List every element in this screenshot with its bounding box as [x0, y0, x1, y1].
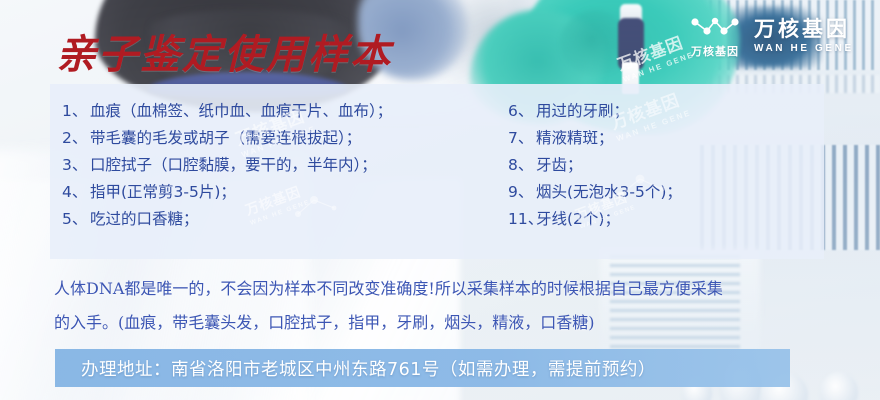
list-item: 8、 牙齿； [508, 152, 824, 179]
list-item: 6、 用过的牙刷； [508, 98, 824, 125]
list-item: 1、 血痕（血棉签、纸巾血、血痕干片、血布）； [62, 98, 502, 125]
list-item: 9、 烟头(无泡水3-5个)； [508, 179, 824, 206]
logo-mark-label: 万核基因 [691, 43, 739, 59]
address-bar: 办理地址：南省洛阳市老城区中州东路761号（如需办理，需提前预约） [55, 349, 790, 387]
list-item-number: 2、 [62, 125, 90, 152]
molecule-icon [688, 14, 742, 40]
list-item-text: 指甲(正常剪3-5片)； [90, 179, 236, 206]
list-item-number: 8、 [508, 152, 536, 179]
explanation-paragraph: 人体DNA都是唯一的，不会因为样本不同改变准确度!所以采集样本的时候根据自己最方… [54, 272, 844, 340]
list-item-text: 用过的牙刷； [536, 98, 629, 125]
list-item: 11、 牙线(2个)； [508, 206, 824, 233]
list-item-text: 带毛囊的毛发或胡子（需要连根拔起）； [90, 125, 361, 152]
list-item-text: 烟头(无泡水3-5个)； [536, 179, 682, 206]
list-item-text: 牙线(2个)； [536, 206, 620, 233]
logo-mark: 万核基因 [688, 14, 742, 59]
list-item-number: 9、 [508, 179, 536, 206]
address-text: 办理地址：南省洛阳市老城区中州东路761号（如需办理，需提前预约） [55, 356, 656, 381]
sample-list-panel: 1、 血痕（血棉签、纸巾血、血痕干片、血布）； 2、 带毛囊的毛发或胡子（需要连… [50, 84, 824, 259]
sample-list-left-column: 1、 血痕（血棉签、纸巾血、血痕干片、血布）； 2、 带毛囊的毛发或胡子（需要连… [50, 98, 502, 259]
list-item-text: 精液精斑； [536, 125, 614, 152]
list-item-text: 血痕（血棉签、纸巾血、血痕干片、血布）； [90, 98, 392, 125]
list-item: 7、 精液精斑； [508, 125, 824, 152]
sample-list-right-column: 6、 用过的牙刷； 7、 精液精斑； 8、 牙齿； 9、 烟头(无泡水3-5个)… [502, 98, 824, 259]
list-item-text: 牙齿； [536, 152, 583, 179]
explanation-line-2: 的入手。(血痕，带毛囊头发，口腔拭子，指甲，牙刷，烟头，精液，口香糖) [54, 306, 844, 340]
list-item-text: 口腔拭子（口腔黏膜，要干的，半年内）； [90, 152, 377, 179]
list-item: 3、 口腔拭子（口腔黏膜，要干的，半年内）； [62, 152, 502, 179]
list-item-number: 5、 [62, 206, 90, 233]
logo-name-cn: 万核基因 [754, 19, 854, 41]
explanation-line-1: 人体DNA都是唯一的，不会因为样本不同改变准确度!所以采集样本的时候根据自己最方… [54, 272, 844, 306]
list-item-number: 1、 [62, 98, 90, 125]
list-item-number: 3、 [62, 152, 90, 179]
logo-wordmark: 万核基因 WAN HE GENE [754, 19, 854, 55]
list-item: 2、 带毛囊的毛发或胡子（需要连根拔起）； [62, 125, 502, 152]
poster-root: 万核基因 WAN HE GENE 万核基因 万核基因 WAN HE GENE 亲… [0, 0, 880, 400]
page-title: 亲子鉴定使用样本 [56, 22, 392, 80]
list-item-number: 6、 [508, 98, 536, 125]
list-item: 5、 吃过的口香糖； [62, 206, 502, 233]
list-item-number: 7、 [508, 125, 536, 152]
list-item-text: 吃过的口香糖； [90, 206, 199, 233]
list-item: 4、 指甲(正常剪3-5片)； [62, 179, 502, 206]
list-item-number: 11、 [508, 206, 536, 233]
brand-logo: 万核基因 万核基因 WAN HE GENE [688, 14, 854, 59]
logo-name-en: WAN HE GENE [754, 44, 854, 55]
list-item-number: 4、 [62, 179, 90, 206]
